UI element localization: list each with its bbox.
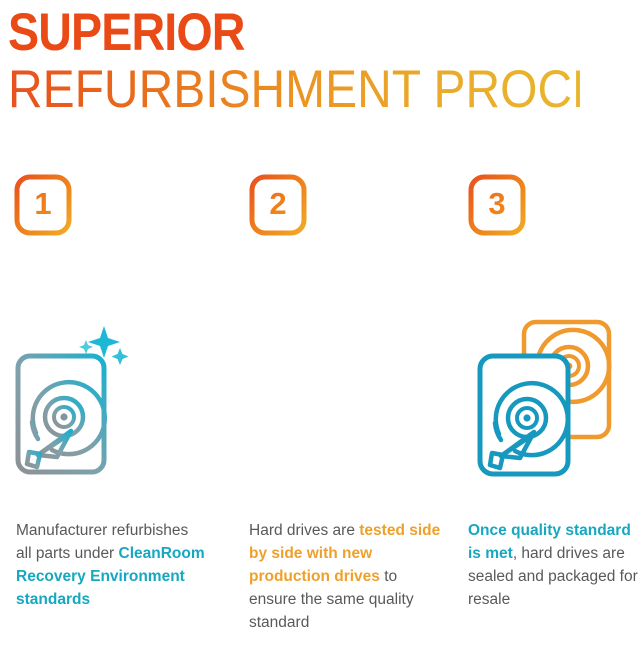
step-number-1: 1	[14, 174, 72, 236]
caption-2-text-normal-lead: Hard drives are	[249, 522, 359, 539]
sparkle-medium-icon	[112, 348, 129, 365]
step-column-3: 3 Once quality standard is met, hard d	[458, 0, 640, 654]
hard-drive-sparkle-icon	[8, 318, 148, 483]
step-badge-1: 1	[14, 174, 72, 236]
step-caption-1: Manufacturer refurbishes all parts under…	[16, 519, 206, 611]
step-caption-3: Once quality standard is met, hard drive…	[468, 519, 640, 611]
sparkle-large-icon	[88, 326, 120, 358]
illustration-hard-drive-sparkle	[8, 318, 148, 488]
step-column-2: 2	[237, 0, 452, 654]
step-column-1: 1	[0, 0, 215, 654]
step-caption-2: Hard drives are tested side by side with…	[249, 519, 444, 634]
step-number-3: 3	[468, 174, 526, 236]
step-number-2: 2	[249, 174, 307, 236]
step-badge-2: 2	[249, 174, 307, 236]
step-badge-3: 3	[468, 174, 526, 236]
